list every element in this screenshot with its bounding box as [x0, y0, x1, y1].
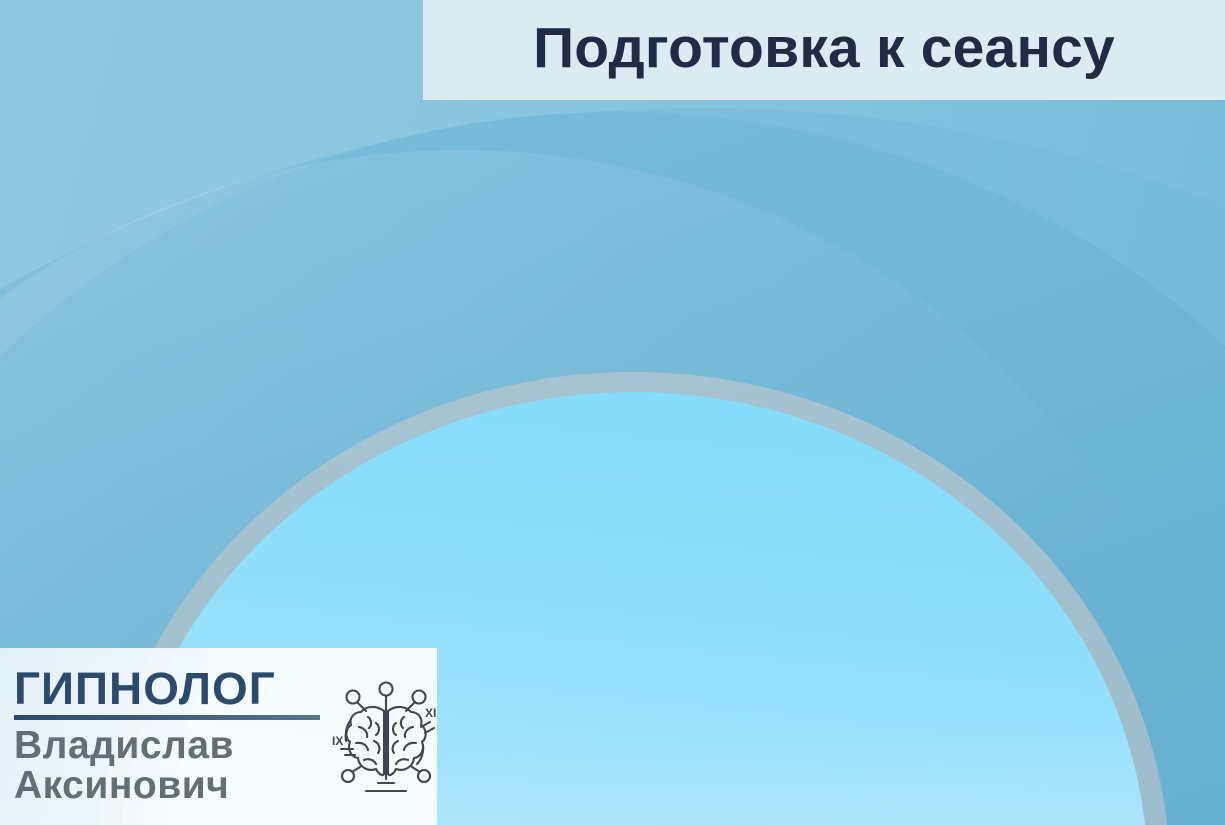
logo-name-last: Аксинович — [14, 766, 320, 806]
logo-divider-rule — [14, 715, 320, 720]
title-banner: Подготовка к сеансу — [423, 0, 1225, 100]
logo-brand-text: ГИПНОЛОГ — [14, 667, 326, 710]
slide-title: Подготовка к сеансу — [533, 20, 1115, 81]
slide-canvas: Подготовка к сеансу ГИПНОЛОГ Владислав А… — [0, 0, 1225, 825]
brain-icon-label-left: IX — [332, 734, 343, 748]
logo-plate: ГИПНОЛОГ Владислав Аксинович — [0, 648, 437, 825]
brain-icon-label-right: XI — [425, 706, 436, 720]
logo-wordmark: ГИПНОЛОГ Владислав Аксинович — [14, 667, 320, 806]
logo-content: ГИПНОЛОГ Владислав Аксинович — [0, 648, 437, 825]
logo-name-first: Владислав — [14, 726, 320, 766]
brain-circuit-icon: IX XI — [326, 675, 437, 805]
